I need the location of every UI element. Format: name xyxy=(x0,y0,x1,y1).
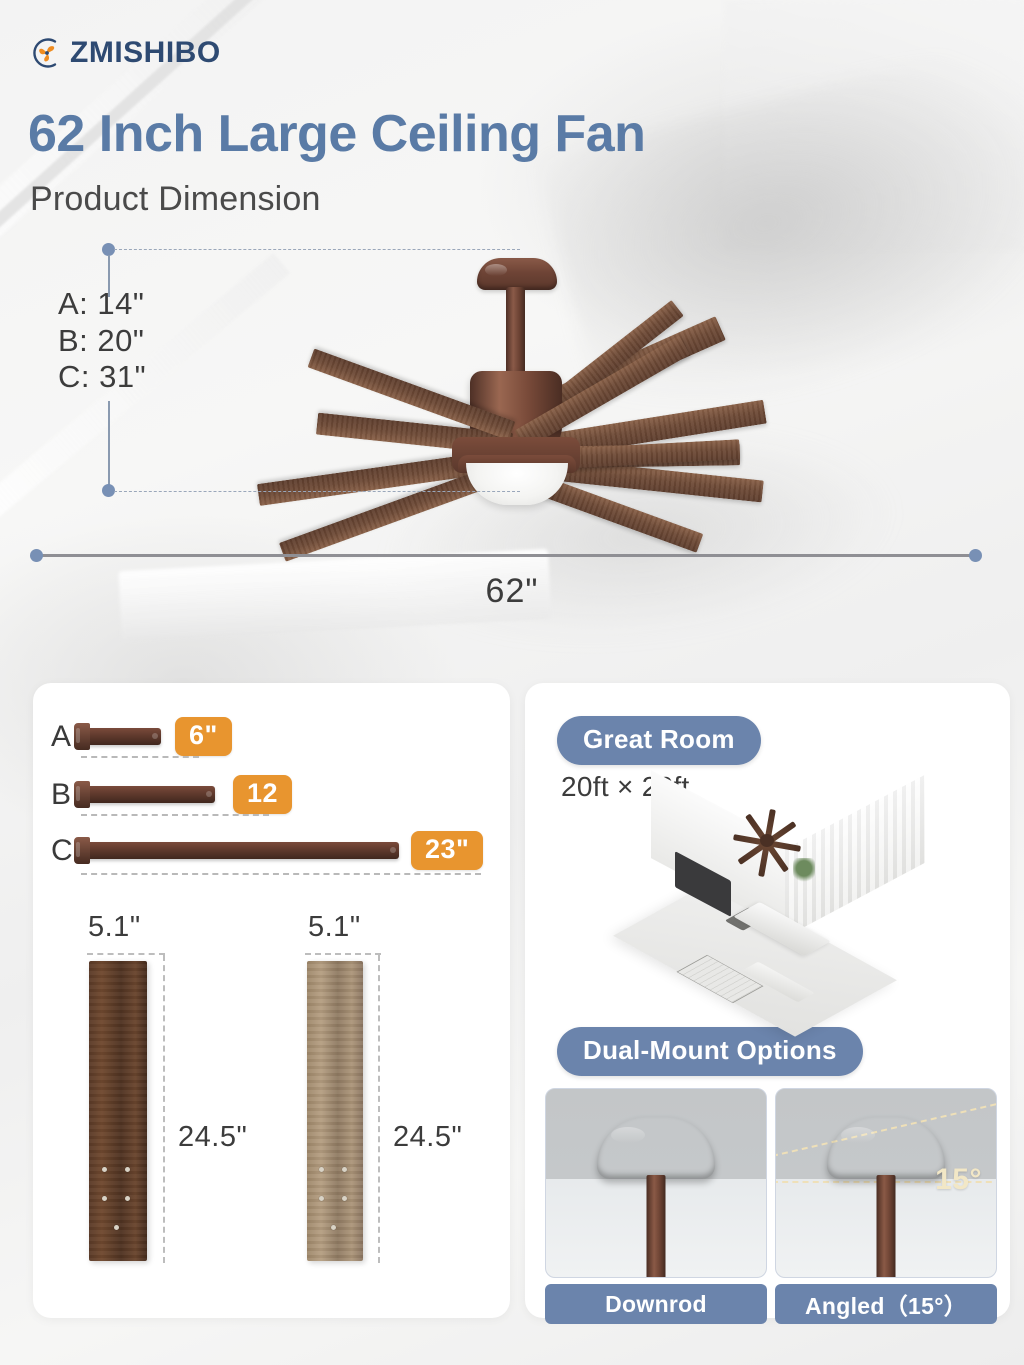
blade-2-image xyxy=(307,961,363,1261)
blade-1-length-guide xyxy=(163,955,165,1263)
height-measure-line-lower xyxy=(108,401,110,489)
downrod-badge-b: 12 xyxy=(233,775,292,814)
downrod-row-c: C 23" xyxy=(51,831,483,870)
height-options-list: A: 14" B: 20" C: 31" xyxy=(58,286,146,396)
page-subtitle: Product Dimension xyxy=(30,180,321,219)
brand-logo: ZMISHIBO xyxy=(30,36,221,70)
height-option-a: A: 14" xyxy=(58,286,146,323)
width-measure-label: 62" xyxy=(0,572,1024,611)
downrod-and-blade-card: A 6" B 12 C 23" 5.1" 24.5" 5.1" xyxy=(33,683,510,1318)
downrod-guide-c xyxy=(81,873,481,875)
fan-blades-circle-icon xyxy=(30,36,64,70)
blade-2-length-guide xyxy=(378,955,380,1263)
width-measure-line xyxy=(36,554,976,557)
downrod-bar-b xyxy=(83,786,215,803)
blade-2-length-label: 24.5" xyxy=(393,1121,462,1154)
blade-1-length-label: 24.5" xyxy=(178,1121,247,1154)
downrod-bar-c xyxy=(83,842,399,859)
height-measure-bottom-guide xyxy=(114,491,520,492)
blade-2-width-guide xyxy=(305,953,381,955)
great-room-badge: Great Room xyxy=(557,716,761,765)
downrod-badge-a: 6" xyxy=(175,717,232,756)
page-title: 62 Inch Large Ceiling Fan xyxy=(28,104,645,164)
dual-mount-badge: Dual-Mount Options xyxy=(557,1027,863,1076)
mount-option-angled-caption[interactable]: Angled（15°） xyxy=(775,1284,997,1324)
ceiling-fan-icon xyxy=(0,225,1024,565)
angle-degree-label: 15° xyxy=(935,1163,982,1197)
mount-option-angled-image[interactable]: 15° xyxy=(775,1088,997,1278)
downrod-guide-a xyxy=(81,756,199,758)
height-measure-top-guide xyxy=(114,249,520,250)
blade-2-width-label: 5.1" xyxy=(308,911,361,944)
height-option-b: B: 20" xyxy=(58,323,146,360)
height-option-c: C: 31" xyxy=(58,359,146,396)
downrod-bar-a xyxy=(83,728,161,745)
width-measure-right-dot xyxy=(969,549,982,562)
isometric-room-icon xyxy=(615,800,920,1000)
blade-1-image xyxy=(89,961,147,1261)
mount-option-downrod-caption[interactable]: Downrod xyxy=(545,1284,767,1324)
blade-1-width-label: 5.1" xyxy=(88,911,141,944)
width-measure-left-dot xyxy=(30,549,43,562)
mount-option-downrod-image[interactable] xyxy=(545,1088,767,1278)
downrod-row-a: A 6" xyxy=(51,717,232,756)
blade-1-width-guide xyxy=(87,953,165,955)
brand-name: ZMISHIBO xyxy=(70,36,221,70)
hero-dimension-diagram: A: 14" B: 20" C: 31" 62" xyxy=(0,225,1024,645)
downrod-row-b: B 12 xyxy=(51,775,292,814)
downrod-guide-b xyxy=(81,814,269,816)
downrod-badge-c: 23" xyxy=(411,831,483,870)
